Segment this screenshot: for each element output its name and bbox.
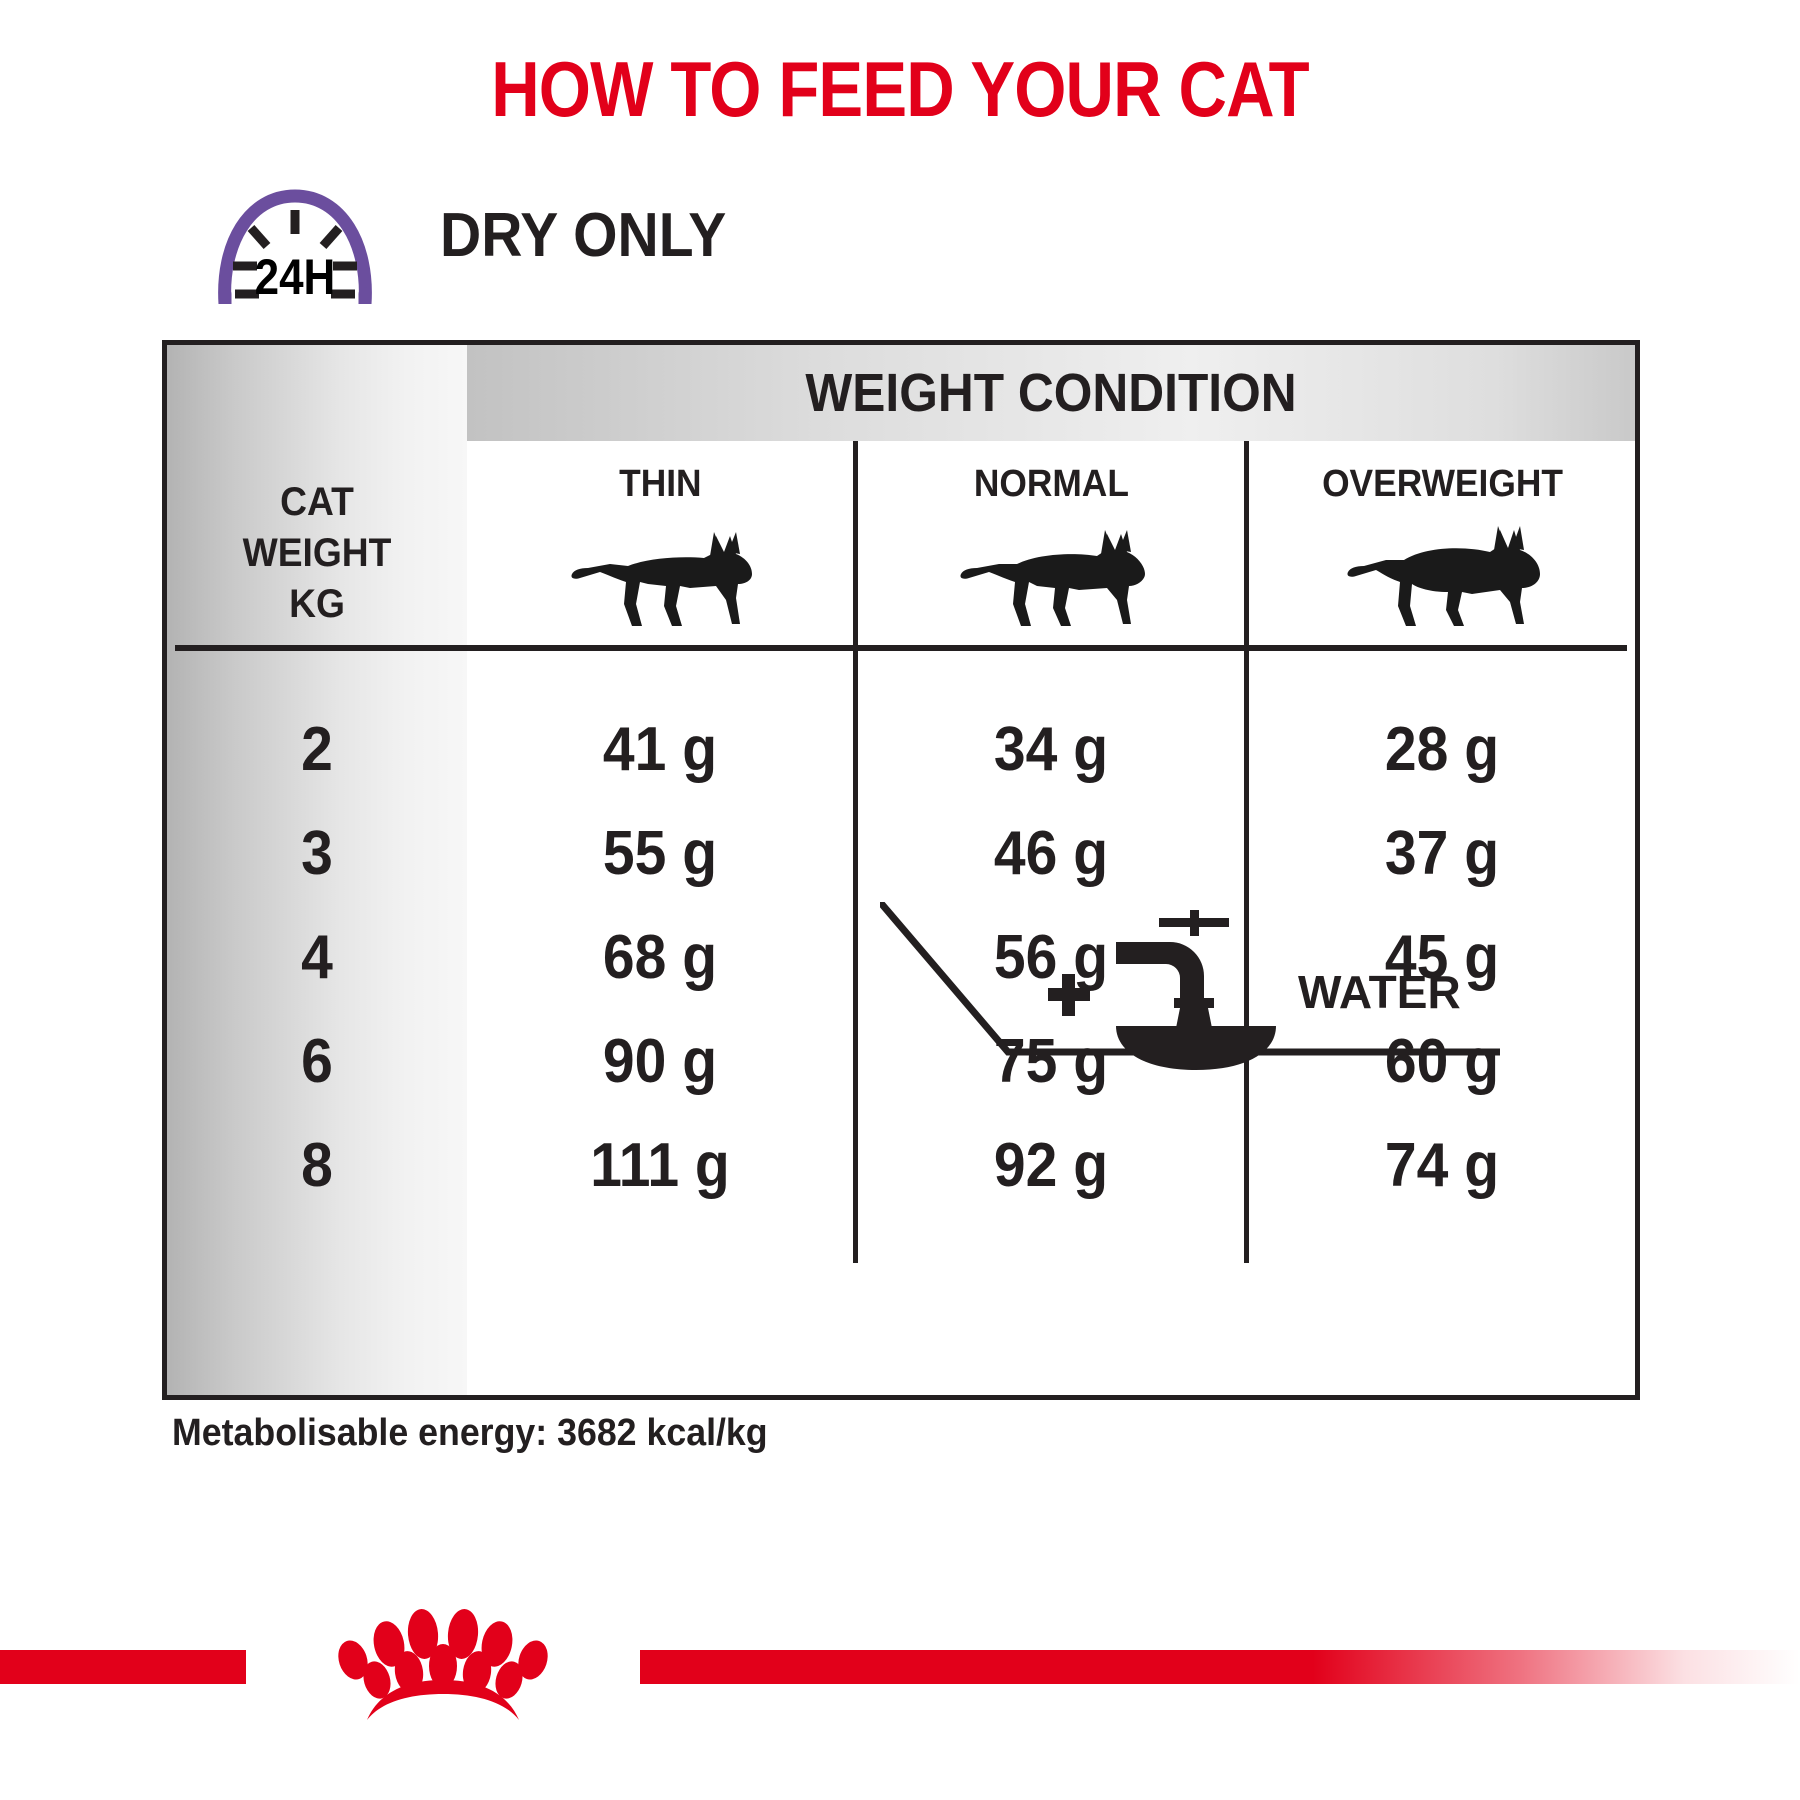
- cat-weight-values-column: 2 3 4 6 8: [167, 651, 467, 1263]
- condition-label-normal: NORMAL: [973, 463, 1128, 506]
- table-cell: 28 g: [1264, 697, 1619, 801]
- feeding-mode-label: DRY ONLY: [440, 200, 726, 271]
- table-cell: 41 g: [482, 697, 837, 801]
- condition-label-overweight: OVERWEIGHT: [1322, 463, 1563, 506]
- brand-bar-right-segment: [640, 1650, 1800, 1684]
- values-column-thin: 41 g 55 g 68 g 90 g 111 g: [467, 651, 853, 1263]
- table-cell: 37 g: [1264, 801, 1619, 905]
- table-cell: 46 g: [873, 801, 1228, 905]
- cat-weight-column-header: CAT WEIGHT KG: [178, 441, 457, 631]
- cat-normal-silhouette-icon: [931, 520, 1171, 640]
- feeding-table: WEIGHT CONDITION CAT WEIGHT KG THIN: [162, 340, 1640, 1400]
- table-cell: 74 g: [1264, 1113, 1619, 1217]
- table-cell: 111 g: [482, 1113, 837, 1217]
- table-cell: 90 g: [482, 1009, 837, 1113]
- cat-weight-header-line2: WEIGHT: [178, 528, 457, 579]
- table-cell: 92 g: [873, 1113, 1228, 1217]
- table-cell: 34 g: [873, 697, 1228, 801]
- brand-bar-left-segment: [0, 1650, 246, 1684]
- svg-text:24H: 24H: [255, 248, 336, 304]
- table-row: 4: [179, 905, 455, 1009]
- cat-weight-header-line1: CAT: [178, 477, 457, 528]
- cat-weight-header-line3: KG: [178, 579, 457, 630]
- condition-column-normal: NORMAL: [853, 441, 1244, 645]
- table-row: 3: [179, 801, 455, 905]
- condition-label-thin: THIN: [619, 463, 701, 506]
- condition-column-overweight: OVERWEIGHT: [1244, 441, 1635, 645]
- table-row: 2: [179, 697, 455, 801]
- brand-bar: [0, 1604, 1800, 1724]
- cat-thin-silhouette-icon: [540, 520, 780, 640]
- table-bottom-band: [167, 1253, 1635, 1395]
- plus-icon: [1048, 974, 1090, 1016]
- cat-overweight-silhouette-icon: [1322, 520, 1562, 640]
- metabolisable-energy-note: Metabolisable energy: 3682 kcal/kg: [172, 1412, 768, 1455]
- water-callout: WATER: [880, 902, 1478, 1060]
- condition-column-headers: THIN NORMAL: [467, 441, 1635, 645]
- table-cell: 68 g: [482, 905, 837, 1009]
- table-row: 8: [179, 1113, 455, 1217]
- faucet-bowl-water-icon: [1116, 910, 1276, 1072]
- clock-24h-icon: 24H: [195, 186, 395, 304]
- condition-column-thin: THIN: [467, 441, 853, 645]
- table-cell: 55 g: [482, 801, 837, 905]
- page-title: HOW TO FEED YOUR CAT: [126, 44, 1674, 135]
- water-label: WATER: [1298, 966, 1461, 1018]
- feeding-mode-header: 24H DRY ONLY: [170, 186, 1610, 304]
- table-row: 6: [179, 1009, 455, 1113]
- royal-canin-paw-crown-icon: [246, 1604, 640, 1724]
- weight-condition-banner-label: WEIGHT CONDITION: [514, 345, 1589, 441]
